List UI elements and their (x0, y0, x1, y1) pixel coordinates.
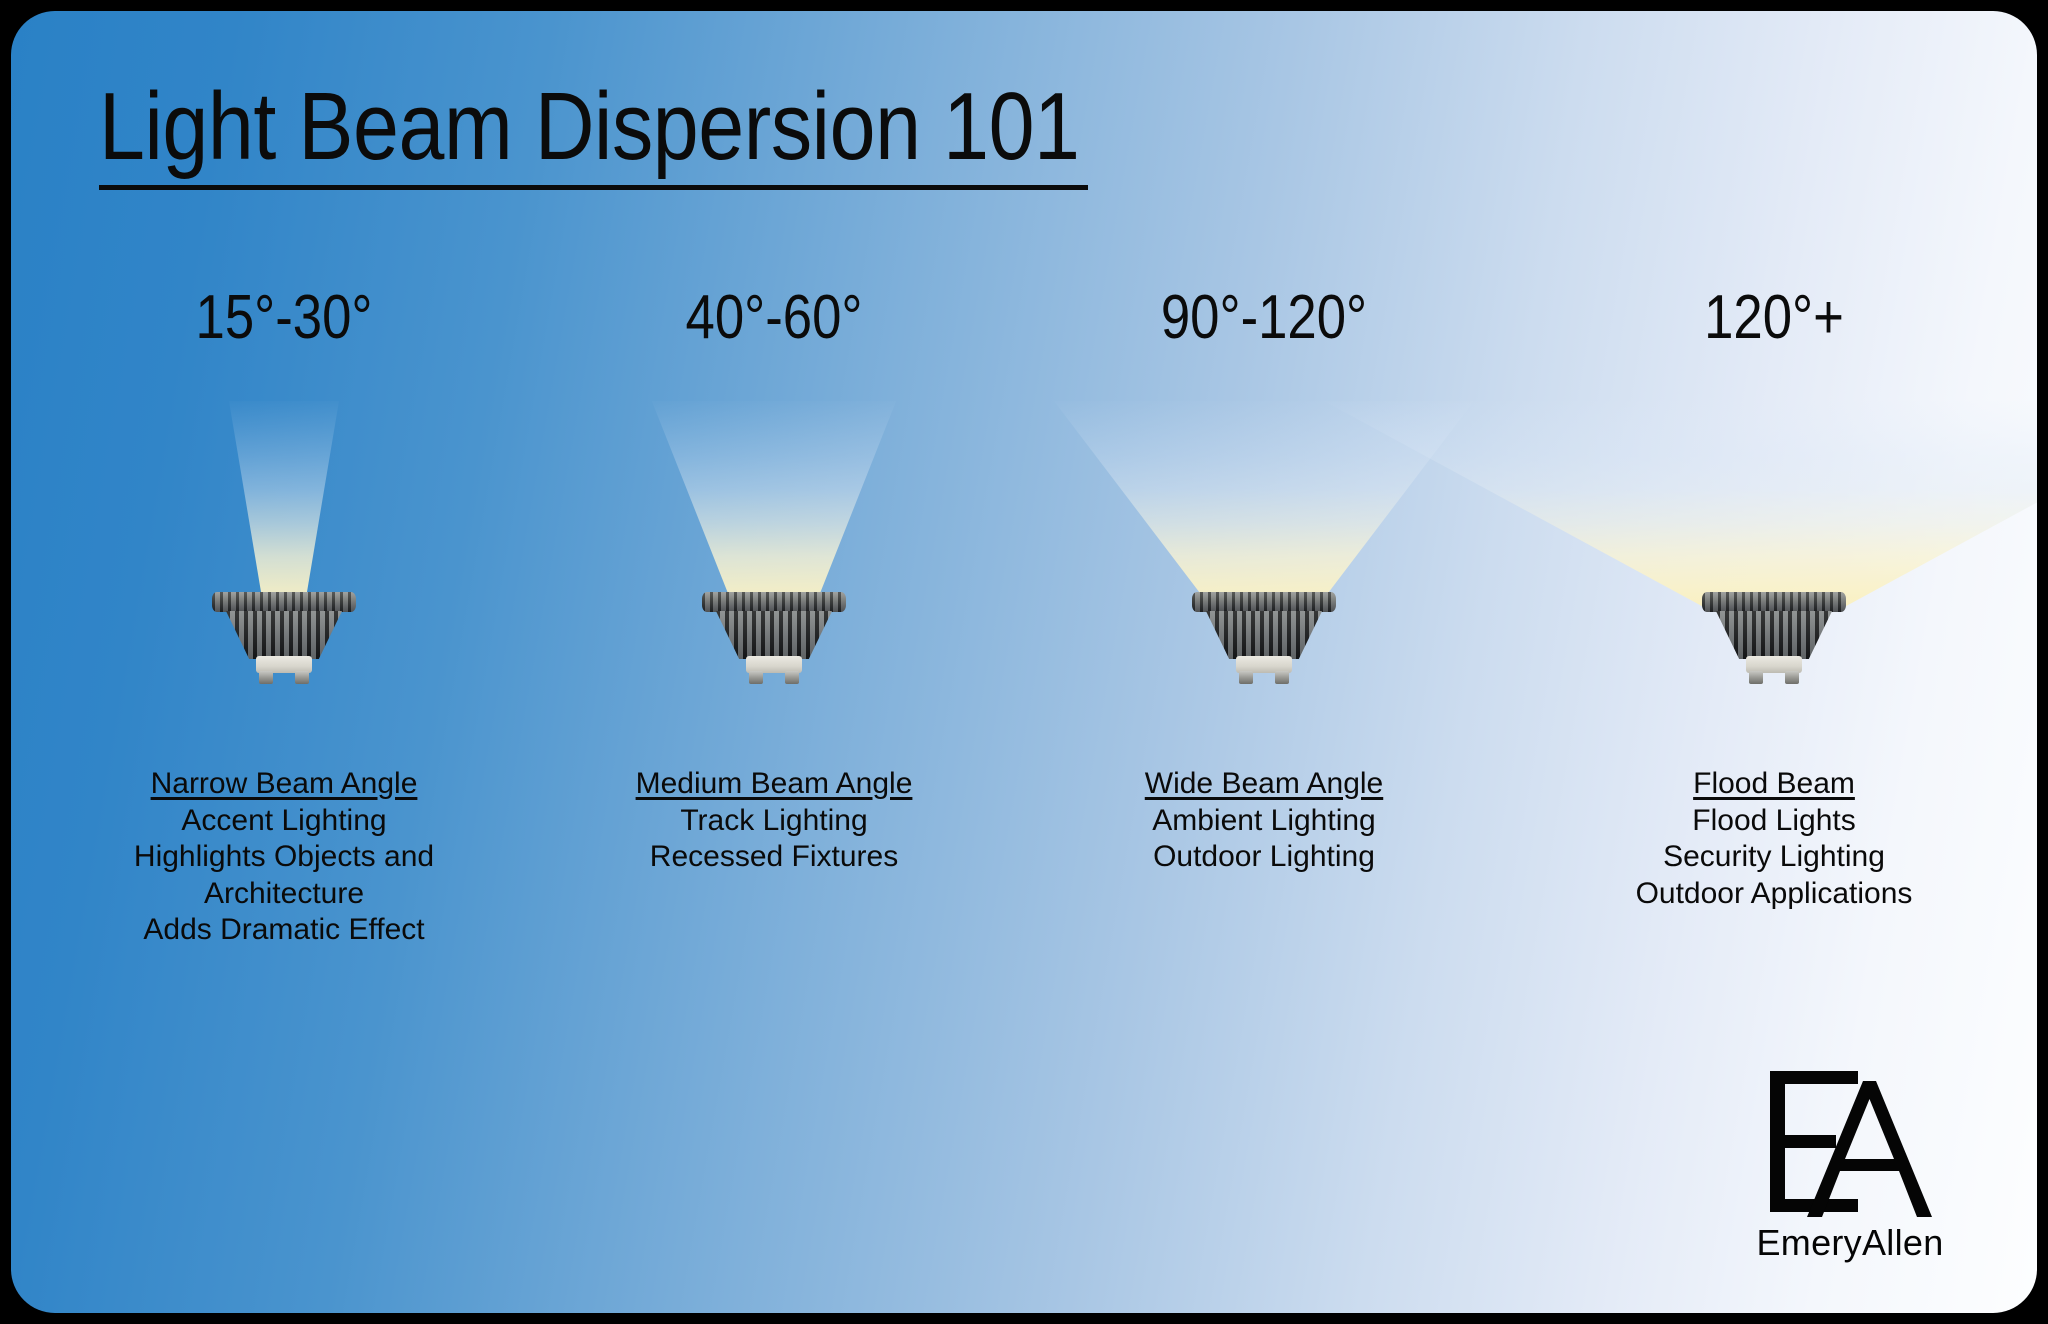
beam-caption-line: Adds Dramatic Effect (39, 912, 529, 949)
led-lamp-medium (702, 592, 846, 684)
beam-caption-heading: Flood Beam (1509, 766, 2037, 803)
lamp-pin-right (1275, 671, 1289, 684)
beam-caption-wide: Wide Beam Angle Ambient Lighting Outdoor… (1019, 766, 1509, 876)
beam-angle-label-wide: 90°-120° (1056, 287, 1473, 349)
beam-column-wide: 90°-120° Wide Beam Angle Ambient Lightin… (1019, 11, 1509, 1313)
lamp-pin-left (1239, 671, 1253, 684)
poster-card: Light Beam Dispersion 101 15°-30° (11, 11, 2037, 1313)
beam-caption-line: Recessed Fixtures (529, 839, 1019, 876)
beam-caption-line: Accent Lighting (39, 803, 529, 840)
beam-caption-heading: Narrow Beam Angle (39, 766, 529, 803)
beam-caption-medium: Medium Beam Angle Track Lighting Recesse… (529, 766, 1019, 876)
lamp-pin-left (749, 671, 763, 684)
beam-caption-heading: Wide Beam Angle (1019, 766, 1509, 803)
lamp-pin-left (259, 671, 273, 684)
led-lamp-flood (1702, 592, 1846, 684)
beam-angle-label-flood: 120°+ (1549, 287, 2000, 349)
led-lamp-narrow (212, 592, 356, 684)
beam-caption-line: Outdoor Lighting (1019, 839, 1509, 876)
medium-beam-cone (644, 401, 904, 611)
emeryallen-logo: EmeryAllen (1725, 1059, 1975, 1261)
narrow-beam-cone (229, 401, 339, 611)
lamp-pin-left (1749, 671, 1763, 684)
lamp-heatsink-body (1206, 611, 1322, 659)
lamp-flange-ring (212, 592, 356, 612)
beam-caption-narrow: Narrow Beam Angle Accent Lighting Highli… (39, 766, 529, 949)
beam-caption-line: Security Lighting (1509, 839, 2037, 876)
beam-caption-line: Ambient Lighting (1019, 803, 1509, 840)
infographic-poster: Light Beam Dispersion 101 15°-30° (0, 0, 2048, 1324)
beam-caption-flood: Flood Beam Flood Lights Security Lightin… (1509, 766, 2037, 912)
lamp-flange-ring (1192, 592, 1336, 612)
beam-caption-heading: Medium Beam Angle (529, 766, 1019, 803)
led-lamp-wide (1192, 592, 1336, 684)
lamp-flange-ring (702, 592, 846, 612)
beam-angle-label-narrow: 15°-30° (76, 287, 493, 349)
lamp-pin-right (785, 671, 799, 684)
beam-angle-label-medium: 40°-60° (566, 287, 983, 349)
beam-caption-line: Track Lighting (529, 803, 1019, 840)
lamp-heatsink-body (1716, 611, 1832, 659)
lamp-pin-right (295, 671, 309, 684)
lamp-heatsink-body (226, 611, 342, 659)
lamp-flange-ring (1702, 592, 1846, 612)
beam-caption-line: Highlights Objects and Architecture (39, 839, 529, 912)
beam-caption-line: Outdoor Applications (1509, 876, 2037, 913)
beam-caption-line: Flood Lights (1509, 803, 2037, 840)
beam-column-medium: 40°-60° Medium Beam Angle Track Lighting… (529, 11, 1019, 1313)
lamp-heatsink-body (716, 611, 832, 659)
ea-monogram-icon (1752, 1059, 1948, 1223)
lamp-pin-right (1785, 671, 1799, 684)
emeryallen-wordmark: EmeryAllen (1725, 1225, 1975, 1261)
beam-column-narrow: 15°-30° Narrow Beam Angle Accent Lightin… (39, 11, 529, 1313)
